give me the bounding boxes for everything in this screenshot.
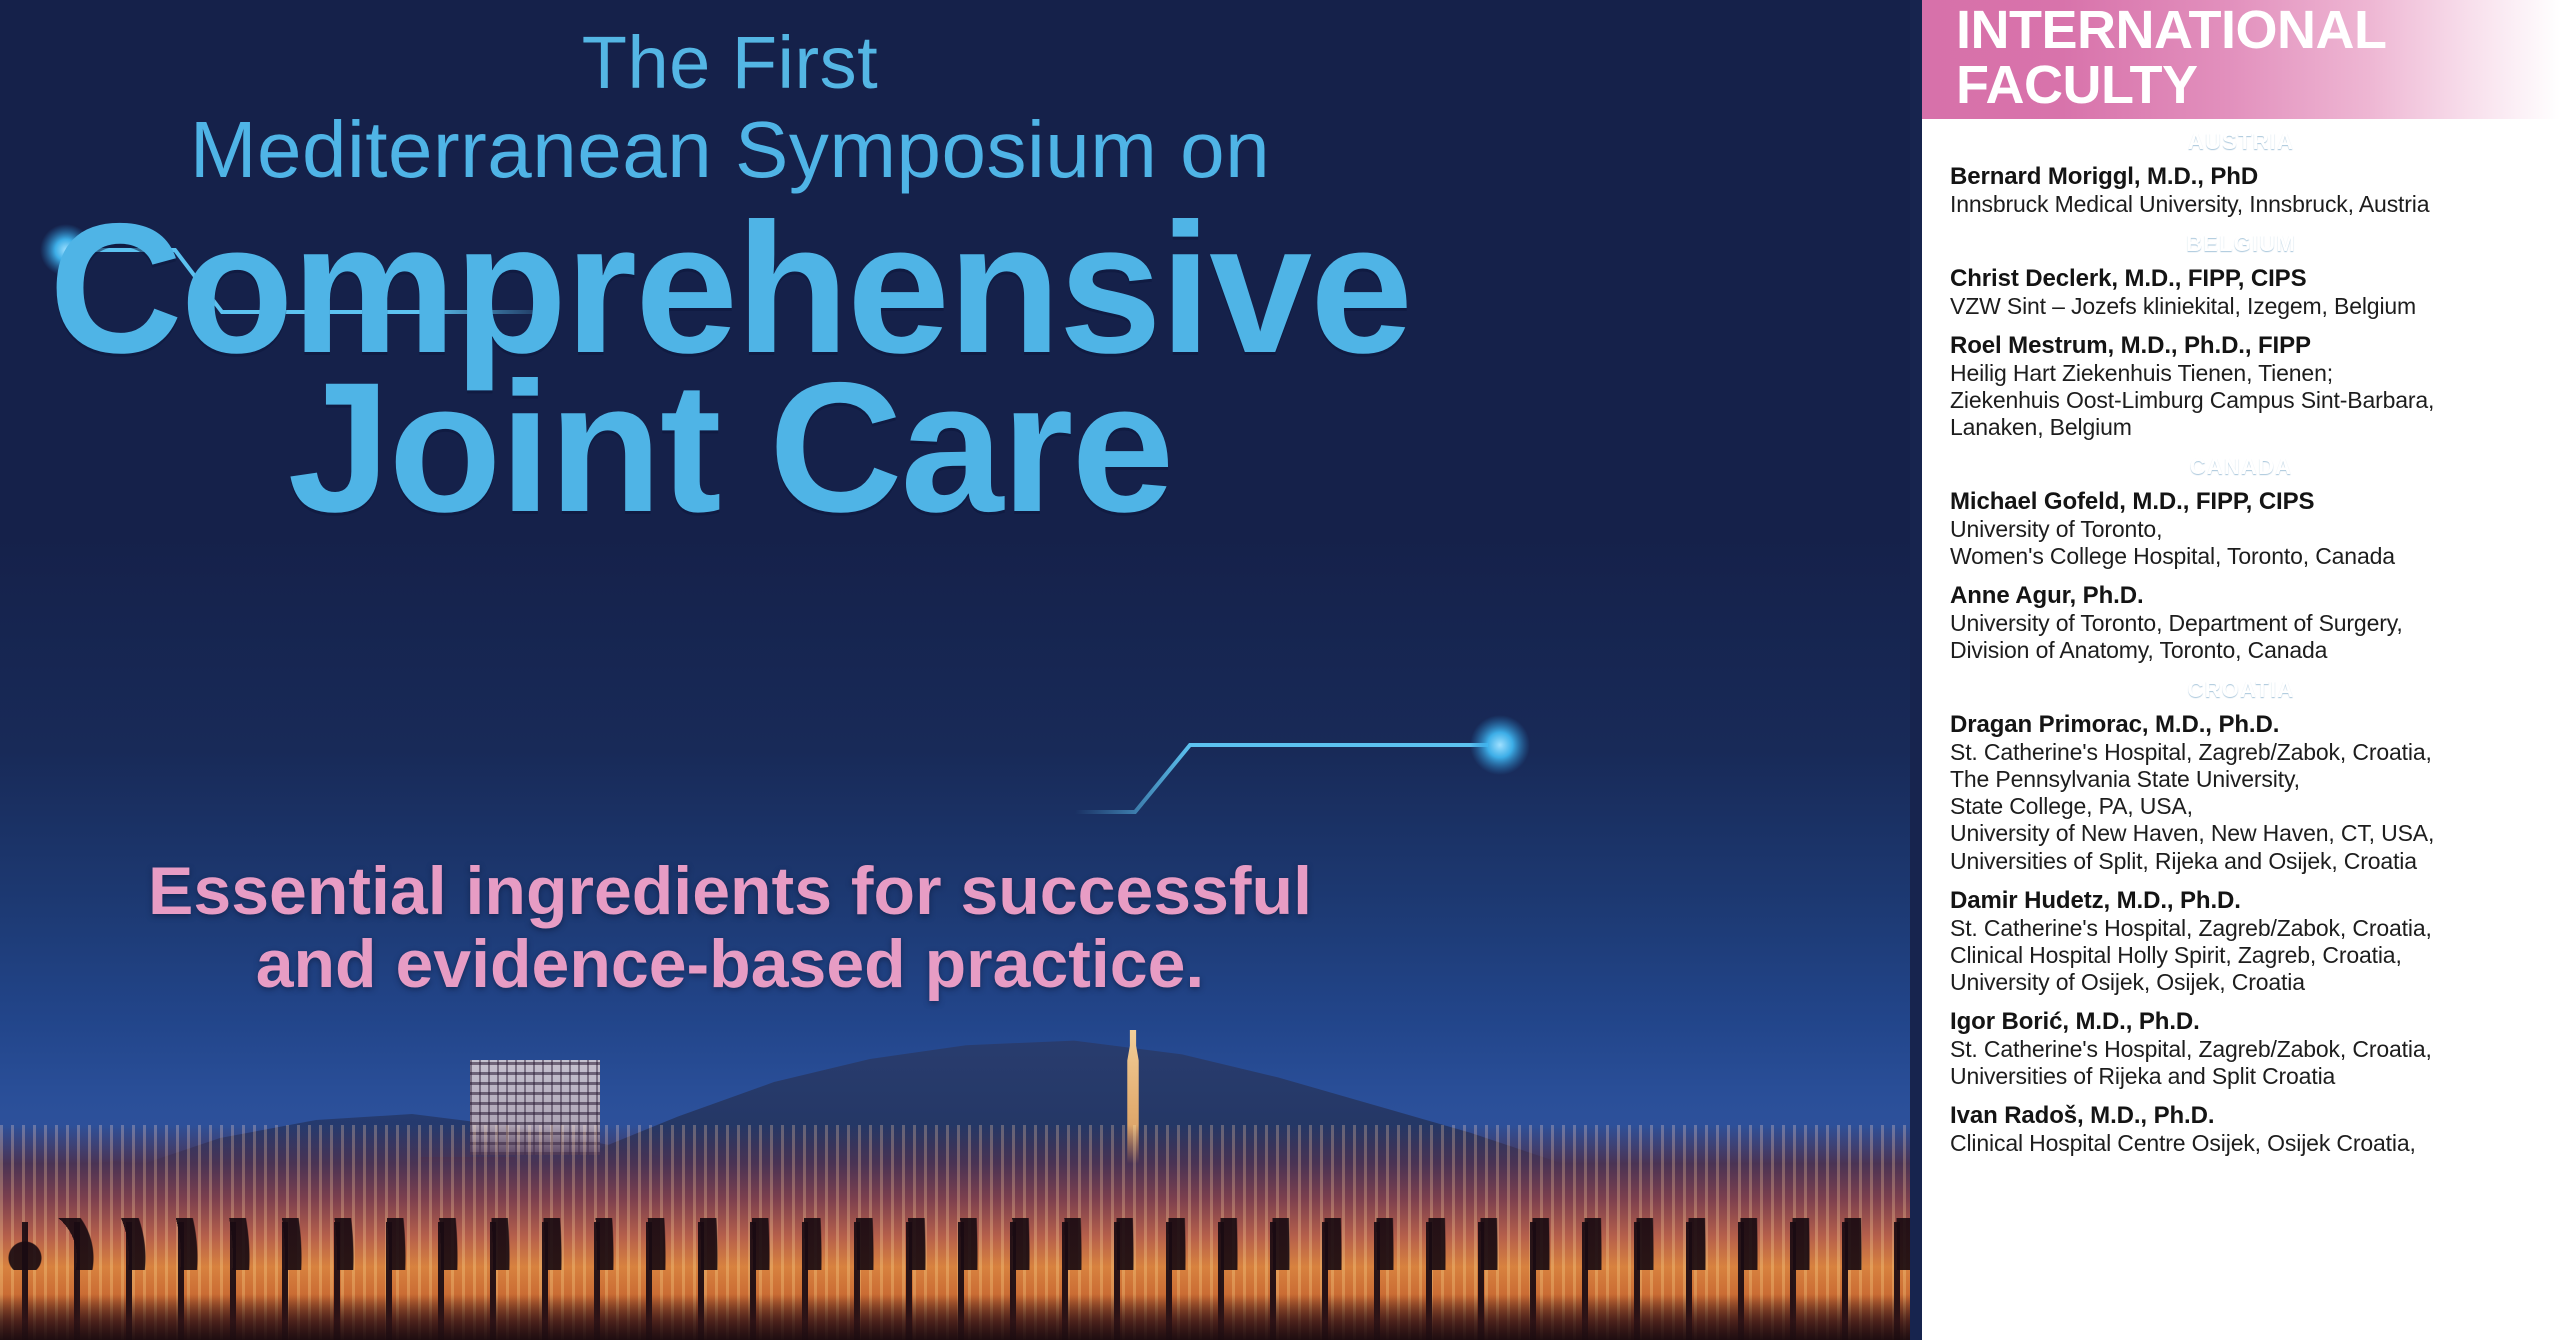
faculty-affiliation: Clinical Hospital Centre Osijek, Osijek …	[1950, 1130, 2546, 1157]
faculty-affiliation: University of Toronto,Women's College Ho…	[1950, 516, 2546, 570]
faculty-name: Ivan Radoš, M.D., Ph.D.	[1950, 1102, 2546, 1130]
affiliation-line: Women's College Hospital, Toronto, Canad…	[1950, 543, 2546, 570]
affiliation-line: University of Toronto, Department of Sur…	[1950, 610, 2546, 637]
affiliation-line: VZW Sint – Jozefs kliniekital, Izegem, B…	[1950, 293, 2546, 320]
affiliation-line: The Pennsylvania State University,	[1950, 766, 2546, 793]
faculty-entry: Anne Agur, Ph.D.University of Toronto, D…	[1922, 582, 2560, 664]
faculty-entry: Dragan Primorac, M.D., Ph.D.St. Catherin…	[1922, 711, 2560, 874]
faculty-name: Igor Borić, M.D., Ph.D.	[1950, 1008, 2546, 1036]
affiliation-line: St. Catherine's Hospital, Zagreb/Zabok, …	[1950, 915, 2546, 942]
faculty-name: Dragan Primorac, M.D., Ph.D.	[1950, 711, 2546, 739]
faculty-name: Damir Hudetz, M.D., Ph.D.	[1950, 887, 2546, 915]
affiliation-line: University of Toronto,	[1950, 516, 2546, 543]
faculty-entry: Ivan Radoš, M.D., Ph.D.Clinical Hospital…	[1922, 1102, 2560, 1157]
affiliation-line: Innsbruck Medical University, Innsbruck,…	[1950, 191, 2546, 218]
affiliation-line: Clinical Hospital Holly Spirit, Zagreb, …	[1950, 942, 2546, 969]
faculty-affiliation: Innsbruck Medical University, Innsbruck,…	[1950, 191, 2546, 218]
affiliation-line: St. Catherine's Hospital, Zagreb/Zabok, …	[1950, 1036, 2546, 1063]
faculty-entry: Igor Borić, M.D., Ph.D.St. Catherine's H…	[1922, 1008, 2560, 1090]
faculty-affiliation: Heilig Hart Ziekenhuis Tienen, Tienen;Zi…	[1950, 360, 2546, 441]
faculty-affiliation: St. Catherine's Hospital, Zagreb/Zabok, …	[1950, 915, 2546, 996]
headline-line-2: Joint Care	[0, 369, 1460, 528]
faculty-header-line-3: FACULTY	[1956, 58, 2386, 113]
faculty-list: AUSTRIABernard Moriggl, M.D., PhDInnsbru…	[1922, 119, 2560, 1340]
faculty-name: Christ Declerk, M.D., FIPP, CIPS	[1950, 265, 2546, 293]
page-title: Comprehensive Joint Care	[0, 210, 1460, 528]
poster-subtitle: Essential ingredients for successful and…	[0, 855, 1460, 1002]
faculty-affiliation: St. Catherine's Hospital, Zagreb/Zabok, …	[1950, 1036, 2546, 1090]
affiliation-line: Clinical Hospital Centre Osijek, Osijek …	[1950, 1130, 2546, 1157]
faculty-name: Michael Gofeld, M.D., FIPP, CIPS	[1950, 488, 2546, 516]
affiliation-line: St. Catherine's Hospital, Zagreb/Zabok, …	[1950, 739, 2546, 766]
faculty-entry: Michael Gofeld, M.D., FIPP, CIPSUniversi…	[1922, 488, 2560, 570]
faculty-affiliation: University of Toronto, Department of Sur…	[1950, 610, 2546, 664]
country-label: BELGIUM	[2186, 231, 2296, 257]
affiliation-line: Universities of Split, Rijeka and Osijek…	[1950, 848, 2546, 875]
poster-main-panel: The First Mediterranean Symposium on Com…	[0, 0, 1910, 1340]
panel-divider-strip	[1910, 0, 1922, 1340]
subtitle-line-2: and evidence-based practice.	[0, 928, 1460, 1001]
invited-faculty-panel: INVITED INTERNATIONAL FACULTY AUSTRIABer…	[1922, 0, 2560, 1340]
affiliation-line: Heilig Hart Ziekenhuis Tienen, Tienen;	[1950, 360, 2546, 387]
affiliation-line: University of Osijek, Osijek, Croatia	[1950, 969, 2546, 996]
faculty-entry: Bernard Moriggl, M.D., PhDInnsbruck Medi…	[1922, 163, 2560, 218]
country-label: CANADA	[2190, 454, 2293, 480]
faculty-name: Roel Mestrum, M.D., Ph.D., FIPP	[1950, 332, 2546, 360]
faculty-header-text: INVITED INTERNATIONAL FACULTY	[1956, 0, 2386, 113]
faculty-name: Anne Agur, Ph.D.	[1950, 582, 2546, 610]
faculty-name: Bernard Moriggl, M.D., PhD	[1950, 163, 2546, 191]
faculty-header-banner: INVITED INTERNATIONAL FACULTY	[1922, 0, 2560, 119]
country-banner-croatia: CROATIA	[1922, 676, 2560, 704]
faculty-affiliation: VZW Sint – Jozefs kliniekital, Izegem, B…	[1950, 293, 2546, 320]
affiliation-line: State College, PA, USA,	[1950, 793, 2546, 820]
faculty-affiliation: St. Catherine's Hospital, Zagreb/Zabok, …	[1950, 739, 2546, 875]
poster-text-block: The First Mediterranean Symposium on Com…	[0, 0, 1910, 1340]
country-banner-austria: AUSTRIA	[1922, 128, 2560, 156]
country-banner-belgium: BELGIUM	[1922, 230, 2560, 258]
country-label: AUSTRIA	[2188, 129, 2294, 155]
affiliation-line: University of New Haven, New Haven, CT, …	[1950, 820, 2546, 847]
faculty-entry: Christ Declerk, M.D., FIPP, CIPSVZW Sint…	[1922, 265, 2560, 320]
affiliation-line: Division of Anatomy, Toronto, Canada	[1950, 637, 2546, 664]
title-line-mediterranean: Mediterranean Symposium on	[0, 110, 1460, 190]
country-label: CROATIA	[2188, 677, 2295, 703]
faculty-entry: Roel Mestrum, M.D., Ph.D., FIPPHeilig Ha…	[1922, 332, 2560, 441]
affiliation-line: Lanaken, Belgium	[1950, 414, 2546, 441]
affiliation-line: Universities of Rijeka and Split Croatia	[1950, 1063, 2546, 1090]
faculty-entry: Damir Hudetz, M.D., Ph.D.St. Catherine's…	[1922, 887, 2560, 996]
faculty-header-line-2: INTERNATIONAL	[1956, 3, 2386, 58]
subtitle-line-1: Essential ingredients for successful	[0, 855, 1460, 928]
conference-poster: The First Mediterranean Symposium on Com…	[0, 0, 2560, 1340]
affiliation-line: Ziekenhuis Oost-Limburg Campus Sint-Barb…	[1950, 387, 2546, 414]
title-line-first: The First	[0, 26, 1460, 100]
country-banner-canada: CANADA	[1922, 453, 2560, 481]
